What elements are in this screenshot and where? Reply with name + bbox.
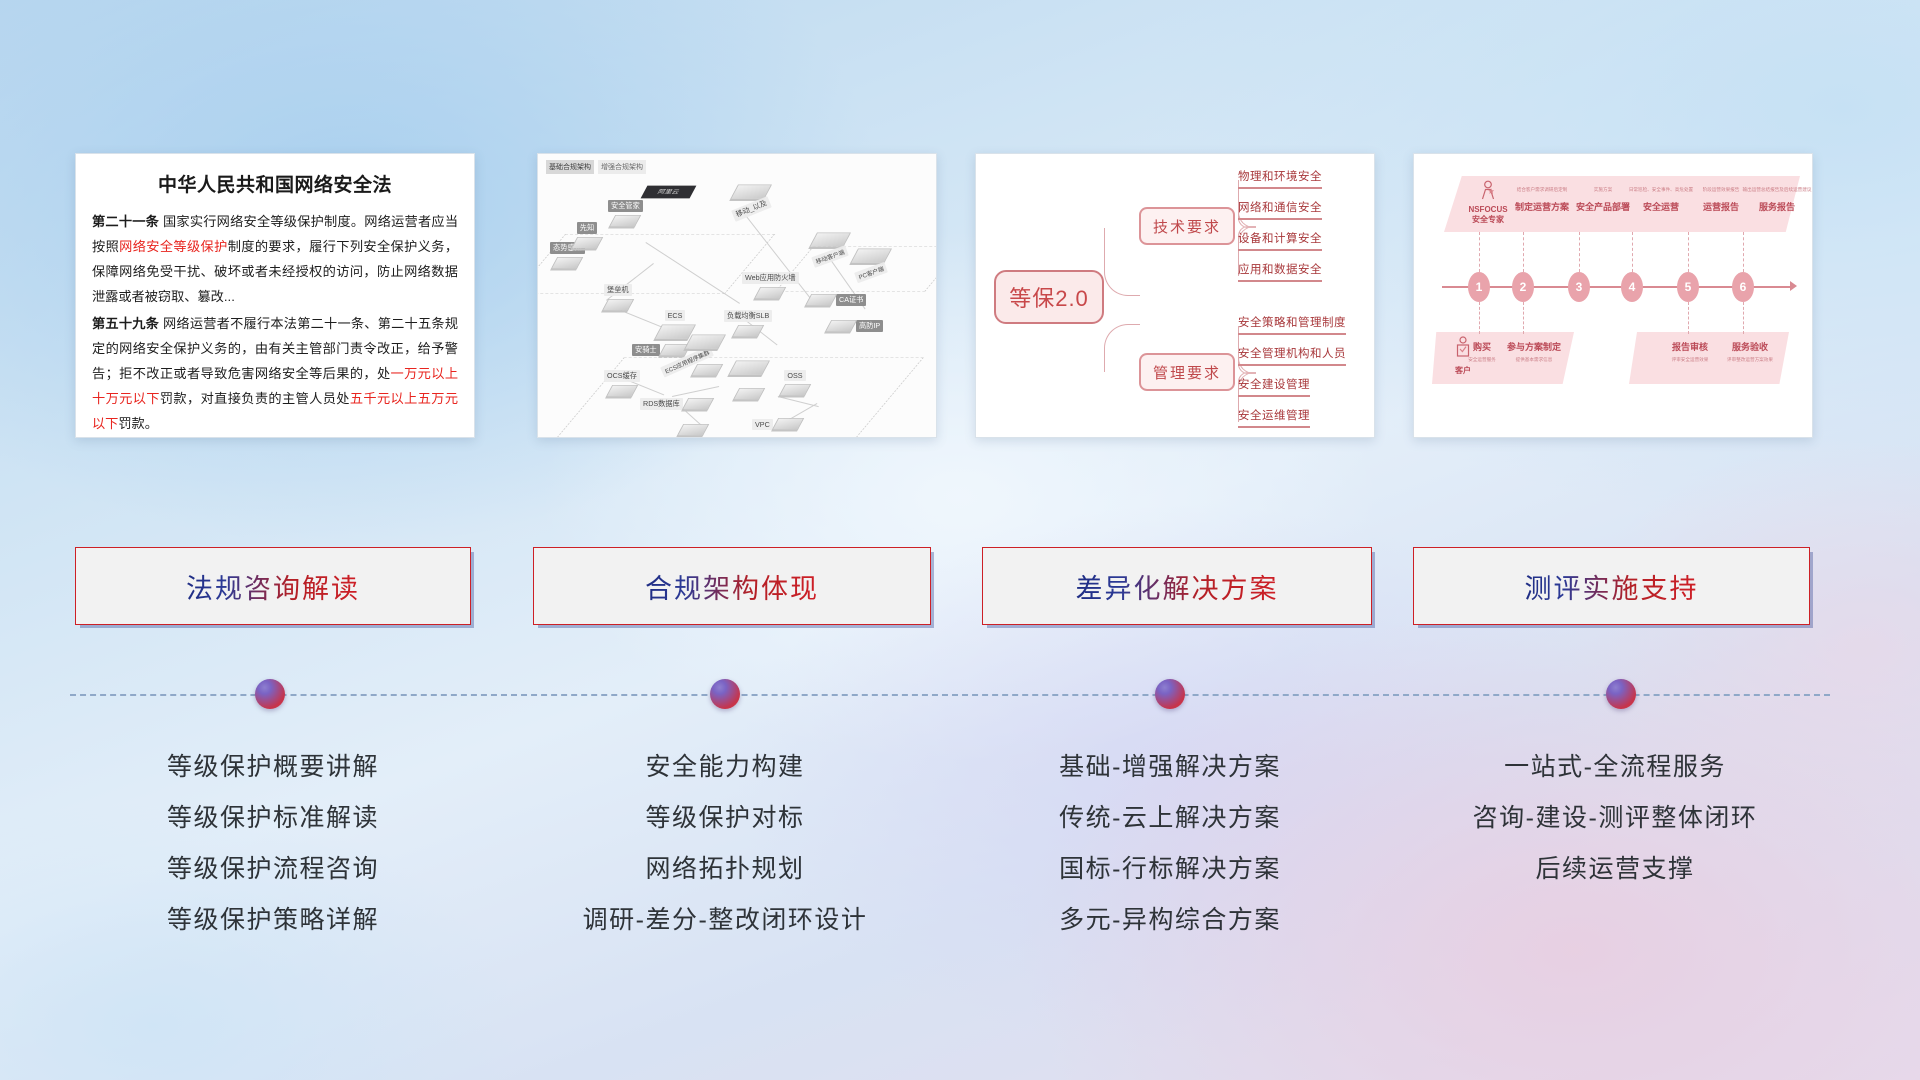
card-service-flow: NSFOCUS 安全专家 客户 结合客户需求调研后定制 制定运营方案 实施方案 … (1413, 153, 1813, 438)
mindmap-leaf-mgmt-3: 安全建设管理 (1238, 376, 1310, 397)
law-body: 第二十一条 国家实行网络安全等级保护制度。网络运营者应当按照网络安全等级保护制度… (92, 209, 458, 436)
node-mobile-client: 移动客户端 (812, 230, 848, 262)
node-bastion-host: 堡垒机 (604, 284, 632, 313)
flow-dash-8 (1523, 302, 1524, 334)
node-anti-ddos-ip: 高防IP (828, 318, 883, 334)
mindmap-leaf-mgmt-1: 安全策略和管理制度 (1238, 314, 1346, 335)
mindmap-branch-mgmt: 管理要求 (1139, 353, 1235, 391)
list-item: 传统-云上解决方案 (955, 793, 1385, 844)
node-security-butler: 安全管家 (608, 200, 643, 229)
card-cloud-architecture: 基础合规架构 增强合规架构 阿里云 态势感知 先知 安全管家 堡垒机 移动_以 (537, 153, 937, 438)
card-mindmap-dengbao: 等保2.0 技术要求 管理要求 物理和环境安全 网络和通信安全 设备和计算安全 … (975, 153, 1375, 438)
list-item: 基础-增强解决方案 (955, 742, 1385, 793)
timeline-dot-1[interactable] (255, 679, 285, 709)
node-cluster-a (688, 332, 722, 352)
article-21-highlight: 网络安全等级保护 (119, 239, 228, 254)
card-cybersecurity-law: 中华人民共和国网络安全法 第二十一条 国家实行网络安全等级保护制度。网络运营者应… (75, 153, 475, 438)
banner-label: 合规架构体现 (645, 567, 819, 606)
node-ocs-cache: OCS缓存 (604, 370, 640, 399)
connector-root-to-tech (1104, 228, 1140, 296)
banner-compliance-architecture[interactable]: 合规架构体现 (533, 547, 931, 625)
article-59-mid: 罚款，对直接负责的主管人员处 (160, 391, 350, 406)
flow-step-bottom-2: 参与方案制定 提供基本需求信息 (1501, 340, 1567, 362)
banner-evaluation-support[interactable]: 测评实施支持 (1413, 547, 1810, 625)
mindmap-leaf-tech-2: 网络和通信安全 (1238, 199, 1322, 220)
list-column-4: 一站式-全流程服务 咨询-建设-测评整体闭环 后续运营支撑 (1400, 742, 1830, 895)
node-xianzhi: 先知 (574, 222, 600, 251)
list-column-2: 安全能力构建 等级保护对标 网络拓扑规划 调研-差分-整改闭环设计 (510, 742, 940, 946)
node-oss: OSS (782, 370, 808, 398)
banner-differentiated-solution[interactable]: 差异化解决方案 (982, 547, 1372, 625)
flow-dash-4 (1632, 232, 1633, 272)
cloud-tag: 阿里云 (641, 186, 697, 199)
timeline-dot-3[interactable] (1155, 679, 1185, 709)
flow-dash-7 (1479, 302, 1480, 334)
flow-step-bottom-3: 报告审核 评审安全运营效果 (1659, 340, 1721, 362)
banner-label: 法规咨询解读 (186, 567, 360, 606)
architecture-canvas: 阿里云 态势感知 先知 安全管家 堡垒机 移动_以及 Web应用防火墙 (546, 170, 928, 429)
flow-step-bottom-4: 服务验收 评审整改运营方案效果 (1719, 340, 1781, 362)
node-ca-certificate: CA证书 (808, 292, 866, 308)
mindmap-leaf-tech-4: 应用和数据安全 (1238, 261, 1322, 282)
list-item: 多元-异构综合方案 (955, 895, 1385, 946)
node-cluster-c (732, 358, 766, 378)
node-rds-database: RDS数据库 (640, 396, 711, 412)
list-item: 等级保护概要讲解 (58, 742, 488, 793)
flow-dash-1 (1479, 232, 1480, 272)
flow-number-3: 3 (1568, 272, 1590, 302)
list-item: 调研-差分-整改闭环设计 (510, 895, 940, 946)
mindmap-leaf-mgmt-2: 安全管理机构和人员 (1238, 345, 1346, 366)
flow-step-bottom-1: 购买 安全运营服务 (1464, 340, 1500, 362)
timeline-dot-2[interactable] (710, 679, 740, 709)
timeline-dot-4[interactable] (1606, 679, 1636, 709)
list-item: 安全能力构建 (510, 742, 940, 793)
node-mobile-cloud: 移动_以及 (732, 182, 771, 215)
article-59-label: 第五十九条 (92, 316, 159, 331)
mindmap-branch-tech: 技术要求 (1139, 207, 1235, 245)
flow-dash-6 (1743, 232, 1744, 272)
flow-dash-2 (1523, 232, 1524, 272)
flow-step-top-5: 输出运营总结报告及后续运营建议 服务报告 (1734, 187, 1813, 213)
list-column-1: 等级保护概要讲解 等级保护标准解读 等级保护流程咨询 等级保护策略详解 (58, 742, 488, 946)
node-waf: Web应用防火墙 (742, 272, 799, 301)
node-database-audit: 数据库审计 (672, 422, 714, 438)
node-cluster-b (694, 362, 720, 378)
node-ecs: ECS (658, 310, 692, 342)
node-slb: 负载均衡SLB (724, 310, 772, 339)
article-59-end: 罚款。 (118, 416, 158, 431)
banner-label: 测评实施支持 (1525, 567, 1699, 606)
list-item: 咨询-建设-测评整体闭环 (1400, 793, 1830, 844)
list-item: 等级保护标准解读 (58, 793, 488, 844)
mindmap-leaf-tech-3: 设备和计算安全 (1238, 230, 1322, 251)
flow-dash-10 (1743, 302, 1744, 334)
expert-person-icon (1479, 180, 1497, 200)
node-pc-client: PC客户端 (854, 246, 888, 278)
mindmap-leaf-tech-1: 物理和环境安全 (1238, 168, 1322, 189)
banner-label: 差异化解决方案 (1076, 567, 1279, 606)
list-item: 等级保护流程咨询 (58, 844, 488, 895)
list-item: 网络拓扑规划 (510, 844, 940, 895)
list-item: 等级保护策略详解 (58, 895, 488, 946)
law-title: 中华人民共和国网络安全法 (92, 170, 458, 197)
flow-number-5: 5 (1677, 272, 1699, 302)
flow-number-4: 4 (1621, 272, 1643, 302)
flow-number-6: 6 (1732, 272, 1754, 302)
mindmap-leaf-mgmt-4: 安全运维管理 (1238, 407, 1310, 428)
list-column-3: 基础-增强解决方案 传统-云上解决方案 国标-行标解决方案 多元-异构综合方案 (955, 742, 1385, 946)
banner-regulation-consulting[interactable]: 法规咨询解读 (75, 547, 471, 625)
flow-dash-5 (1688, 232, 1689, 272)
flow-axis-arrow-icon (1790, 281, 1797, 291)
list-item: 国标-行标解决方案 (955, 844, 1385, 895)
node-cluster-d (736, 386, 762, 402)
list-item: 等级保护对标 (510, 793, 940, 844)
list-item: 后续运营支撑 (1400, 844, 1830, 895)
list-item: 一站式-全流程服务 (1400, 742, 1830, 793)
flow-number-1: 1 (1468, 272, 1490, 302)
connector-root-to-mgmt (1104, 324, 1140, 372)
flow-dash-3 (1579, 232, 1580, 272)
article-21-label: 第二十一条 (92, 214, 159, 229)
mindmap-root: 等保2.0 (994, 270, 1104, 324)
node-vpc: VPC (752, 416, 801, 432)
flow-dash-9 (1688, 302, 1689, 334)
flow-number-2: 2 (1512, 272, 1534, 302)
timeline-dashed-line (70, 694, 1830, 696)
